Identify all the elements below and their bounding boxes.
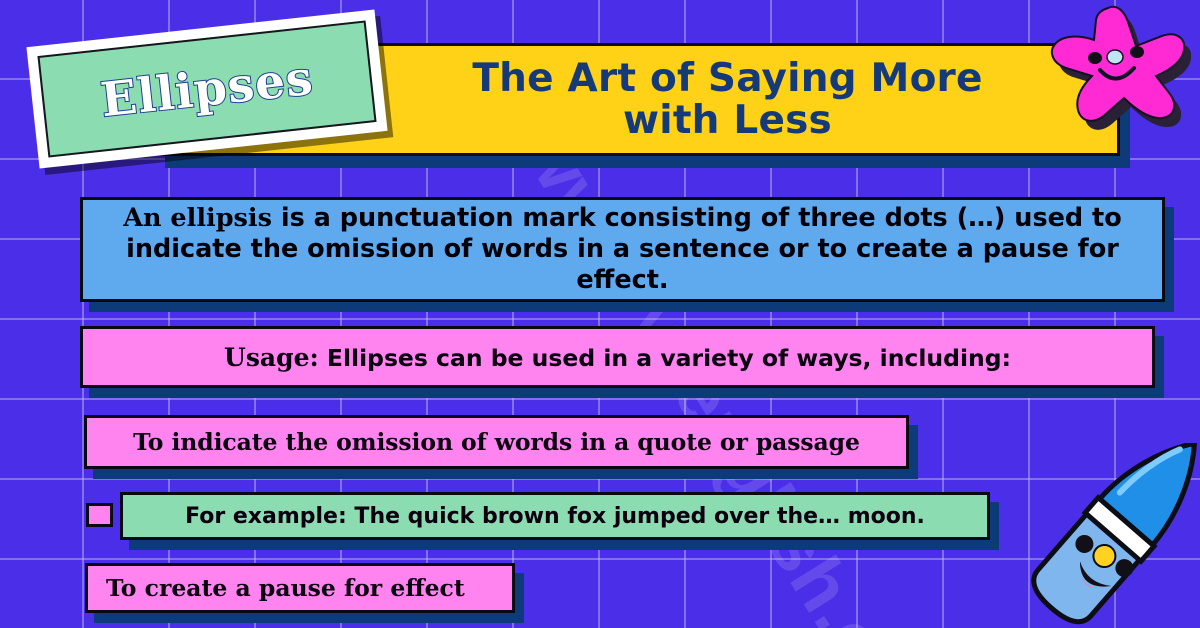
definition-text: An ellipsis is a punctuation mark consis… (101, 203, 1144, 296)
usage-text: Usage: Ellipses can be used in a variety… (224, 343, 1011, 372)
star-nose (1107, 50, 1123, 64)
definition-lead: An ellipsis (123, 203, 272, 233)
pink-star-icon (1036, 2, 1191, 130)
definition-body: is a punctuation mark consisting of thre… (126, 203, 1122, 295)
bullet-label-1: To indicate the omission of words in a q… (133, 428, 860, 456)
example-label: For example: The quick brown fox jumped … (185, 504, 925, 529)
bullet-box-2: To create a pause for effect (85, 563, 515, 613)
star-left-eye (1088, 52, 1102, 64)
usage-box: Usage: Ellipses can be used in a variety… (80, 326, 1155, 388)
usage-lead: Usage: (224, 343, 319, 372)
usage-body: Ellipses can be used in a variety of way… (319, 344, 1011, 372)
example-box: For example: The quick brown fox jumped … (120, 492, 990, 540)
bullet-label-2: To create a pause for effect (106, 574, 465, 602)
title-badge-label: Ellipses (98, 50, 316, 128)
header-title-line2: with Less (623, 98, 832, 143)
example-bullet-marker (86, 503, 113, 527)
title-badge-inner: Ellipses (37, 20, 376, 157)
infographic-canvas: www.loveenglish.org The Art of Saying Mo… (0, 0, 1200, 628)
star-right-eye (1130, 46, 1144, 58)
header-title-line1: The Art of Saying More (472, 56, 982, 101)
blue-rocket-icon (1018, 443, 1200, 628)
bullet-box-1: To indicate the omission of words in a q… (84, 415, 909, 469)
definition-box: An ellipsis is a punctuation mark consis… (80, 197, 1165, 302)
